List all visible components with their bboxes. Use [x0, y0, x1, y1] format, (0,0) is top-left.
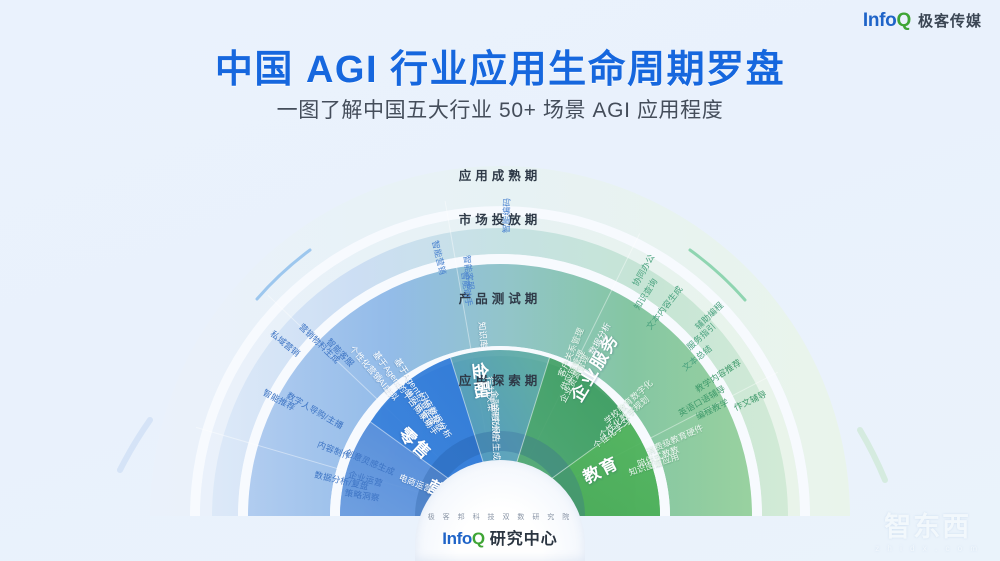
hub-label: 研究中心 — [490, 525, 558, 549]
sector-name-finance[interactable]: 金融 — [468, 361, 497, 401]
hub-subtitle: 极 客 邦 科 技 双 数 研 究 院 — [428, 512, 573, 522]
compass-diagram: 应用成熟期 市场投放期 产品测试期 应用探索期 营销 零售 金融 企业服务 教育… — [0, 0, 1000, 561]
hub-infoq-text: Info — [442, 529, 472, 548]
hub-wordmark: InfoQ 研究中心 — [442, 525, 557, 549]
hub-infoq: InfoQ — [442, 529, 484, 549]
hub-infoq-q: Q — [472, 529, 485, 548]
infographic-canvas: InfoQ 极客传媒 中国 AGI 行业应用生命周期罗盘 一图了解中国五大行业 … — [0, 0, 1000, 561]
